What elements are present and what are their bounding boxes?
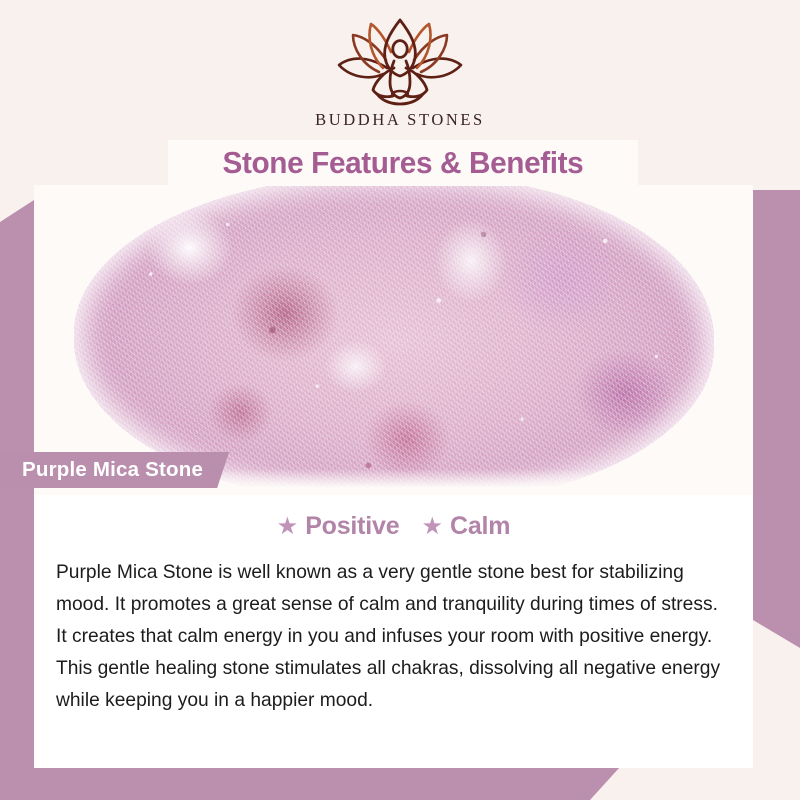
description-block: Purple Mica Stone is well known as a ver… — [34, 556, 753, 716]
brand-logo: BUDDHA STONES — [0, 16, 800, 130]
stone-name-label: Purple Mica Stone — [22, 458, 203, 482]
frame-band-bottom — [0, 767, 620, 800]
keyword-calm: ★ Calm — [421, 512, 510, 541]
description-paragraph: Purple Mica Stone is well known as a ver… — [56, 556, 727, 716]
purple-mica-stone-image — [74, 185, 714, 495]
keyword-positive: ★ Positive — [277, 512, 400, 541]
page-title: Stone Features & Benefits — [223, 145, 584, 181]
keyword-label: Calm — [450, 512, 510, 541]
star-icon: ★ — [277, 515, 299, 539]
lotus-meditation-icon — [325, 16, 475, 108]
frame-band-left — [0, 200, 34, 800]
stone-name-tag: Purple Mica Stone — [0, 452, 229, 488]
stone-texture-speckles — [74, 185, 714, 495]
title-banner: Stone Features & Benefits — [168, 140, 638, 186]
star-icon: ★ — [421, 515, 443, 539]
stone-photo — [34, 185, 753, 495]
infographic-page: BUDDHA STONES Stone Features & Benefits … — [0, 0, 800, 800]
keyword-label: Positive — [305, 512, 399, 541]
brand-name: BUDDHA STONES — [315, 110, 485, 130]
keyword-row: ★ Positive ★ Calm — [34, 512, 753, 541]
